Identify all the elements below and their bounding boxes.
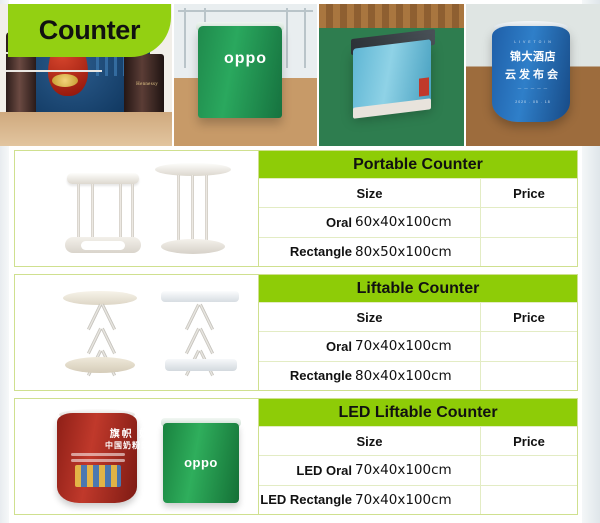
table-row: Rectangle 80x50x100cm — [259, 237, 577, 266]
oppo-green-counter-photo: oppo — [174, 4, 317, 146]
row-dimension: 60x40x100cm — [355, 214, 452, 230]
row-label: Rectangle — [259, 368, 355, 383]
column-header-price: Price — [513, 310, 545, 325]
section-portable-counter: Portable Counter Size Price Oral 60x40x1… — [14, 150, 578, 267]
liftable-counter-spec-table: Liftable Counter Size Price Oral 70x40x1… — [259, 275, 577, 390]
section-title-led-liftable: LED Liftable Counter — [259, 399, 577, 426]
product-sections: Portable Counter Size Price Oral 60x40x1… — [0, 150, 600, 522]
hennessy-logo-text-right: Hennessy — [136, 82, 158, 87]
table-row: LED Oral 70x40x100cm — [259, 455, 577, 484]
table-row: Rectangle 80x40x100cm — [259, 361, 577, 390]
led-liftable-counter-spec-table: LED Liftable Counter Size Price LED Oral… — [259, 399, 577, 514]
row-dimension: 80x40x100cm — [355, 368, 452, 384]
liftable-counter-image — [15, 275, 259, 390]
row-dimension: 80x50x100cm — [355, 244, 452, 260]
row-label: LED Oral — [259, 463, 355, 478]
section-title-liftable: Liftable Counter — [259, 275, 577, 302]
row-label: Rectangle — [259, 244, 355, 259]
table-row: Oral 60x40x100cm — [259, 207, 577, 236]
column-header-size: Size — [356, 310, 382, 325]
table-header-row: Size Price — [259, 178, 577, 207]
oppo-brand-text: oppo — [174, 50, 317, 68]
section-title-portable: Portable Counter — [259, 151, 577, 178]
column-header-size: Size — [356, 186, 382, 201]
table-row: LED Rectangle 70x40x100cm — [259, 485, 577, 514]
oppo-brand-text: oppo — [163, 455, 239, 470]
section-led-liftable-counter: 旗帜 奶粉 中国奶粉的旗帜 oppo LED Liftable Counter … — [14, 398, 578, 515]
blue-counter-carpet-photo — [319, 4, 464, 146]
row-label: Oral — [259, 339, 355, 354]
led-liftable-counter-image: 旗帜 奶粉 中国奶粉的旗帜 oppo — [15, 399, 259, 514]
portable-counter-spec-table: Portable Counter Size Price Oral 60x40x1… — [259, 151, 577, 266]
section-liftable-counter: Liftable Counter Size Price Oral 70x40x1… — [14, 274, 578, 391]
product-spec-page: Hennessy Hennessy oppo — [0, 0, 600, 523]
row-dimension: 70x40x100cm — [355, 462, 452, 478]
column-header-price: Price — [513, 434, 545, 449]
page-title-badge: Counter — [8, 4, 171, 57]
column-header-size: Size — [356, 434, 382, 449]
row-dimension: 70x40x100cm — [355, 492, 452, 508]
portable-counter-image — [15, 151, 259, 266]
page-title: Counter — [39, 15, 140, 46]
blue-oval-counter-photo: L I V E T O I N 锦大酒店 云发布会 — — — — — 2020… — [466, 4, 600, 146]
column-header-price: Price — [513, 186, 545, 201]
row-label: LED Rectangle — [259, 492, 355, 507]
table-row: Oral 70x40x100cm — [259, 331, 577, 360]
oval-counter-text-line1: 锦大酒店 — [466, 48, 600, 64]
row-label: Oral — [259, 215, 355, 230]
table-header-row: Size Price — [259, 426, 577, 455]
row-dimension: 70x40x100cm — [355, 338, 452, 354]
oval-counter-text-line2: 云发布会 — [466, 66, 600, 82]
table-header-row: Size Price — [259, 302, 577, 331]
